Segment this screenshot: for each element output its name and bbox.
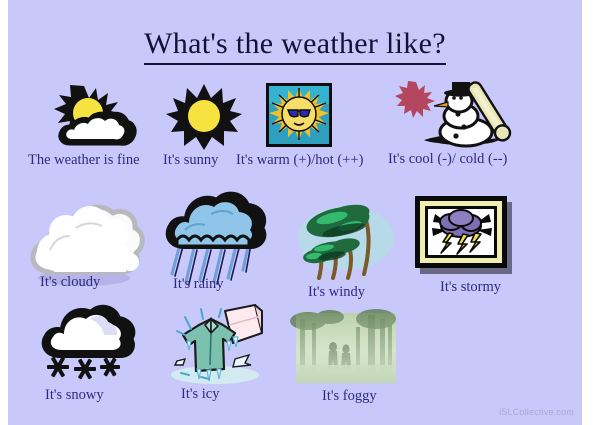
framed-lightning-storm-icon (415, 196, 515, 276)
weather-item-warm-hot: It's warm (+)/hot (++) (236, 82, 386, 172)
weather-item-cloudy: It's cloudy (20, 188, 150, 298)
weather-label-cloudy: It's cloudy (40, 275, 100, 290)
weather-item-icy: It's icy (163, 303, 283, 403)
weather-item-fine: The weather is fine (28, 82, 158, 172)
weather-label-stormy: It's stormy (440, 280, 501, 295)
weather-label-foggy: It's foggy (322, 389, 377, 404)
islcollective-watermark: iSLCollective.com (499, 407, 574, 417)
foggy-forest-photo-icon (296, 313, 396, 383)
worksheet-slide: What's the weather like? The weather is … (8, 0, 582, 425)
page-title: What's the weather like? (8, 27, 582, 61)
sun-behind-cloud-icon (40, 82, 140, 150)
weather-item-snowy: It's snowy (33, 305, 153, 405)
white-cloud-icon (26, 188, 146, 286)
snowman-with-thermometer-icon (394, 80, 524, 150)
sun-icon (166, 84, 242, 150)
weather-item-rainy: It's rainy (158, 192, 278, 300)
weather-item-foggy: It's foggy (296, 313, 426, 408)
wind-blown-trees-icon (296, 200, 406, 282)
weather-label-cool-cold: It's cool (-)/ cold (--) (388, 152, 507, 167)
weather-label-windy: It's windy (308, 285, 365, 300)
frozen-shirt-icon (163, 303, 268, 385)
rain-cloud-icon (161, 192, 271, 287)
weather-item-cool-cold: It's cool (-)/ cold (--) (388, 80, 553, 172)
weather-item-stormy: It's stormy (412, 196, 532, 296)
weather-label-sunny: It's sunny (163, 153, 218, 168)
sun-with-sunglasses-framed-icon (266, 83, 332, 147)
weather-label-icy: It's icy (181, 387, 219, 402)
page-title-text: What's the weather like? (144, 27, 446, 65)
weather-label-rainy: It's rainy (173, 277, 224, 292)
snow-cloud-icon (38, 305, 138, 383)
weather-label-warm-hot: It's warm (+)/hot (++) (236, 153, 363, 168)
weather-item-windy: It's windy (296, 200, 406, 300)
weather-label-fine: The weather is fine (28, 153, 140, 168)
weather-item-sunny: It's sunny (158, 82, 248, 172)
weather-label-snowy: It's snowy (45, 388, 104, 403)
